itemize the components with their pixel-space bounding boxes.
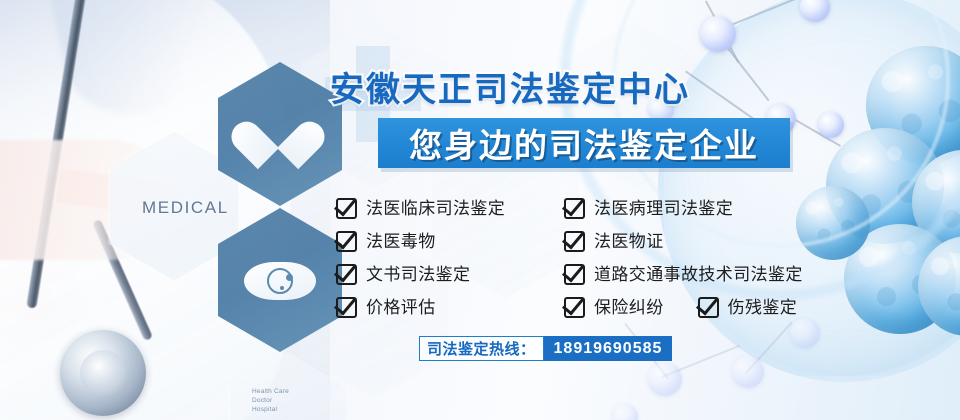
heart-icon: [249, 102, 307, 156]
cell-sphere: [918, 236, 960, 336]
molecule-node: [732, 356, 764, 388]
molecule-bond: [685, 71, 756, 122]
service-label: 法医临床司法鉴定: [366, 200, 505, 217]
checkbox-checked-icon: [336, 264, 357, 285]
checkbox-checked-icon: [564, 297, 585, 318]
service-label: 法医病理司法鉴定: [594, 200, 733, 217]
service-label: 法医毒物: [366, 233, 436, 250]
molecule-bond: [662, 345, 740, 378]
eye-iris: [267, 268, 293, 294]
hexagon-info-tile: [228, 352, 348, 420]
doctor-collar: [46, 0, 253, 127]
molecule-node: [612, 404, 638, 420]
cell-sphere: [844, 224, 956, 334]
petri-dish: [658, 0, 960, 382]
page-title: 安徽天正司法鉴定中心: [330, 62, 690, 111]
subtitle-banner: 您身边的司法鉴定企业: [378, 118, 790, 168]
checkbox-checked-icon: [336, 297, 357, 318]
cell-sphere: [866, 46, 960, 164]
stethoscope-tube: [26, 0, 88, 309]
eye-pupil-dot: [286, 274, 293, 281]
checkbox-checked-icon: [564, 231, 585, 252]
molecule-bond: [715, 32, 769, 101]
list-item[interactable]: 价格评估: [336, 291, 505, 324]
hotline-label: 司法鉴定热线：: [419, 336, 544, 361]
service-label: 文书司法鉴定: [366, 266, 470, 283]
list-item[interactable]: 文书司法鉴定: [336, 258, 505, 291]
molecule-bond: [745, 322, 792, 374]
doctor-photo: [0, 0, 330, 420]
list-item[interactable]: 法医临床司法鉴定: [336, 192, 505, 225]
gloved-hand: [0, 140, 170, 260]
service-column-left: 法医临床司法鉴定 法医毒物 文书司法鉴定 价格评估: [336, 192, 505, 324]
hexagon-info-line-1: Health Care: [252, 388, 289, 397]
checkbox-checked-icon: [698, 297, 719, 318]
molecule-node: [648, 362, 682, 396]
stethoscope-chestpiece: [60, 330, 146, 416]
hexagon-info-line-2: Doctor: [252, 397, 272, 406]
hexagon-heart-tile: [218, 62, 342, 206]
list-item[interactable]: 道路交通事故技术司法鉴定: [564, 258, 803, 291]
checkbox-checked-icon: [564, 264, 585, 285]
checkbox-checked-icon: [336, 198, 357, 219]
checkbox-checked-icon: [336, 231, 357, 252]
hexagon-medical-tile: [108, 130, 240, 282]
doctor-coat: [0, 0, 290, 420]
service-label: 保险纠纷: [594, 299, 664, 316]
molecule-node: [818, 112, 844, 138]
checkbox-checked-icon: [564, 198, 585, 219]
subtitle-text: 您身边的司法鉴定企业: [378, 118, 790, 168]
list-item[interactable]: 保险纠纷 伤残鉴定: [564, 291, 803, 324]
service-label: 法医物证: [594, 233, 664, 250]
pointing-finger: [56, 168, 199, 221]
hotline-bar[interactable]: 司法鉴定热线： 18919690585: [419, 336, 672, 361]
molecule-node: [800, 0, 830, 22]
service-label: 价格评估: [366, 299, 436, 316]
cell-sphere: [912, 150, 960, 254]
eye-pupil-dot: [280, 286, 284, 290]
molecule-bond: [716, 0, 806, 32]
hexagon-eye-tile: [218, 208, 342, 352]
hexagon-info-line-3: Hospital: [252, 406, 277, 415]
cell-sphere: [796, 186, 870, 260]
stethoscope-tube-lower: [92, 219, 153, 341]
eye-icon: [244, 262, 316, 300]
service-column-right: 法医病理司法鉴定 法医物证 道路交通事故技术司法鉴定 保险纠纷: [564, 192, 803, 324]
promo-banner: MEDICAL Health Care Doctor Hospital: [0, 0, 960, 420]
molecule-node: [700, 16, 736, 52]
service-label: 道路交通事故技术司法鉴定: [594, 266, 803, 283]
cell-sphere: [826, 128, 944, 244]
service-label: 伤残鉴定: [728, 299, 798, 316]
list-item[interactable]: 法医毒物: [336, 225, 505, 258]
hexagon-medical-label: MEDICAL: [142, 198, 229, 218]
molecule-bond: [705, 0, 739, 63]
list-item[interactable]: 法医病理司法鉴定: [564, 192, 803, 225]
list-item[interactable]: 法医物证: [564, 225, 803, 258]
hotline-number[interactable]: 18919690585: [544, 336, 673, 361]
